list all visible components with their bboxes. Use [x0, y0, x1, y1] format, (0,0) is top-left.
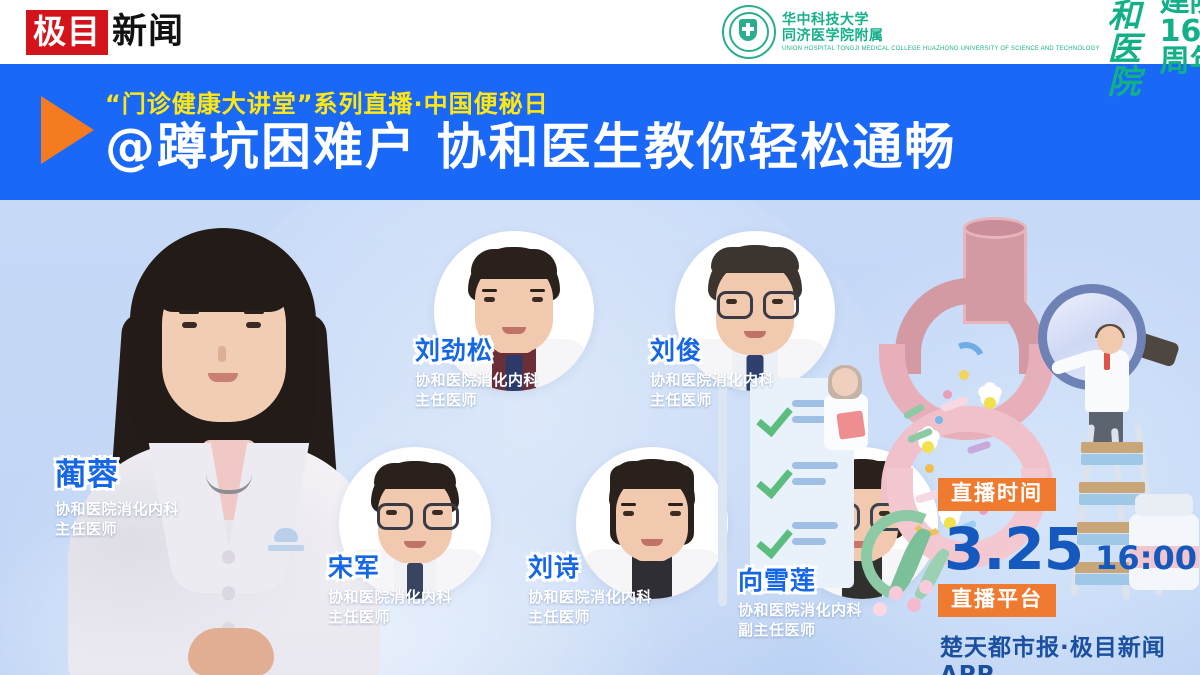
doctor-name: 宋军 — [328, 555, 452, 580]
brand-name: 新闻 — [112, 15, 184, 50]
banner-title: @蹲坑困难户 协和医生教你轻松通畅 — [105, 118, 956, 176]
doctor-name: 刘劲松 — [415, 338, 539, 363]
live-stream-poster: 极目 新闻 华中科技大学 同济医学院附属 UNION HOSPITAL TONG… — [0, 0, 1200, 675]
doctor-title: 主任医师 — [528, 607, 652, 627]
hospital-calligraphy-name: 协和医院 — [1108, 0, 1142, 98]
hospital-emblem-icon — [722, 5, 776, 59]
doctor-name: 向雪莲 — [738, 568, 862, 593]
play-triangle-icon — [41, 96, 94, 164]
flower-icon — [973, 386, 1007, 420]
doctor-namecard-1: 刘俊 协和医院消化内科 主任医师 — [650, 338, 774, 410]
live-datetime: 3.25 16:00 — [944, 520, 1188, 578]
doctor-dept: 协和医院消化内科 — [55, 499, 179, 519]
page-header: 极目 新闻 华中科技大学 同济医学院附属 UNION HOSPITAL TONG… — [0, 0, 1200, 64]
doctor-namecard-0: 刘劲松 协和医院消化内科 主任医师 — [415, 338, 539, 410]
live-platform-badge: 直播平台 — [938, 584, 1056, 617]
hospital-text-block: 华中科技大学 同济医学院附属 UNION HOSPITAL TONGJI MED… — [782, 12, 1100, 53]
live-date: 3.25 — [944, 520, 1083, 578]
hospital-english-name: UNION HOSPITAL TONGJI MEDICAL COLLEGE HU… — [782, 45, 1100, 53]
main-stage: 蔺蓉 协和医院消化内科 主任医师 刘劲松 协和医院消化内科 主任医师 刘俊 协和… — [0, 200, 1200, 675]
banner-subtitle: “门诊健康大讲堂”系列直播·中国便秘日 — [105, 84, 549, 119]
doctor-dept: 协和医院消化内科 — [415, 370, 539, 390]
doctor-dept: 协和医院消化内科 — [650, 370, 774, 390]
live-platform-name: 楚天都市报·极目新闻APP — [940, 628, 1188, 675]
jimu-news-logo[interactable]: 极目 新闻 — [26, 10, 184, 55]
live-time-badge: 直播时间 — [938, 478, 1056, 511]
live-clock: 16:00 — [1095, 542, 1197, 574]
doctor-dept: 协和医院消化内科 — [528, 587, 652, 607]
hospital-logo: 华中科技大学 同济医学院附属 UNION HOSPITAL TONGJI MED… — [722, 6, 1200, 58]
doctor-name: 蔺蓉 — [55, 460, 179, 491]
hospital-line1: 华中科技大学 — [782, 12, 1100, 28]
doctor-title: 主任医师 — [55, 519, 179, 539]
hospital-anniversary: 建院160周年 — [1160, 0, 1200, 77]
doctor-dept: 协和医院消化内科 — [738, 600, 862, 620]
doctor-title: 主任医师 — [415, 390, 539, 410]
decor-pole — [718, 376, 727, 606]
hospital-line2: 同济医学院附属 — [782, 28, 1100, 44]
doctor-title: 主任医师 — [650, 390, 774, 410]
doctor-namecard-3: 刘诗 协和医院消化内科 主任医师 — [528, 555, 652, 627]
doctor-name: 刘诗 — [528, 555, 652, 580]
title-banner: “门诊健康大讲堂”系列直播·中国便秘日 @蹲坑困难户 协和医生教你轻松通畅 — [0, 64, 1200, 200]
doctor-title: 主任医师 — [328, 607, 452, 627]
doctor-title: 副主任医师 — [738, 620, 862, 640]
doctor-namecard-2: 宋军 协和医院消化内科 主任医师 — [328, 555, 452, 627]
doctor-dept: 协和医院消化内科 — [328, 587, 452, 607]
doctor-namecard-featured: 蔺蓉 协和医院消化内科 主任医师 — [55, 460, 179, 539]
doctor-namecard-4: 向雪莲 协和医院消化内科 副主任医师 — [738, 568, 862, 640]
brand-mark: 极目 — [26, 10, 108, 55]
doctor-name: 刘俊 — [650, 338, 774, 363]
broadcast-info-panel: 直播时间 3.25 16:00 直播平台 楚天都市报·极目新闻APP — [938, 478, 1188, 675]
